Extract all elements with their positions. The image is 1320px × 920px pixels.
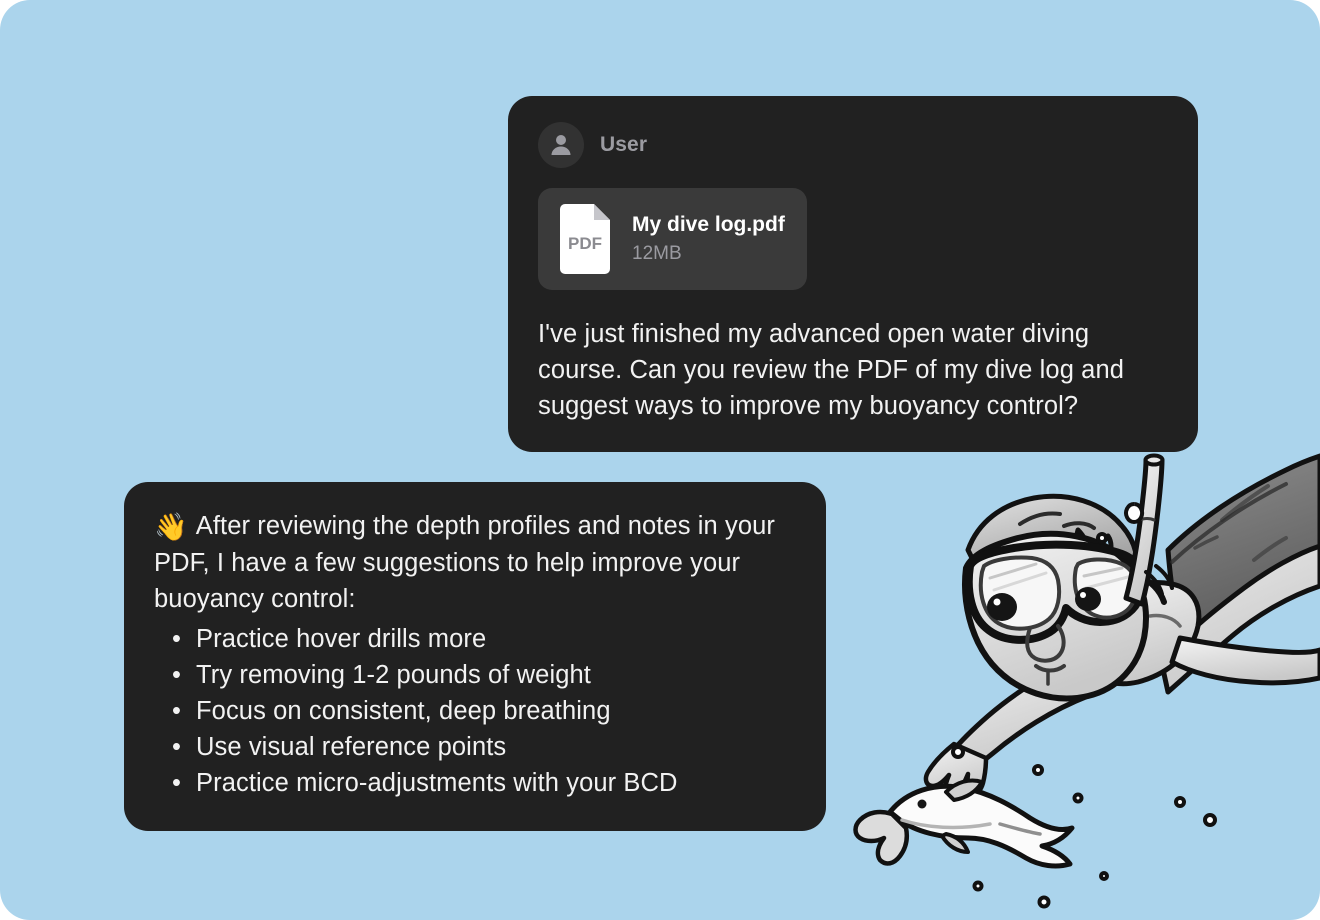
- pdf-file-icon: PDF: [556, 204, 614, 274]
- user-message-bubble: User PDF My dive log.pdf 12MB I've just …: [508, 96, 1198, 452]
- list-item: Use visual reference points: [196, 729, 796, 765]
- svg-text:PDF: PDF: [568, 234, 602, 253]
- list-item: Practice micro-adjustments with your BCD: [196, 765, 796, 801]
- assistant-suggestion-list: Practice hover drills more Try removing …: [154, 621, 796, 801]
- list-item: Focus on consistent, deep breathing: [196, 693, 796, 729]
- list-item: Try removing 1-2 pounds of weight: [196, 657, 796, 693]
- waving-hand-emoji: 👋: [154, 512, 188, 542]
- assistant-message-bubble: 👋After reviewing the depth profiles and …: [124, 482, 826, 831]
- assistant-intro-paragraph: 👋After reviewing the depth profiles and …: [154, 508, 796, 617]
- pdf-filesize-label: 12MB: [632, 243, 785, 265]
- pdf-attachment-card[interactable]: PDF My dive log.pdf 12MB: [538, 188, 807, 290]
- snorkeler-underwater-illustration: [850, 400, 1320, 920]
- screenshot-canvas: User PDF My dive log.pdf 12MB I've just …: [0, 0, 1320, 920]
- list-item: Practice hover drills more: [196, 621, 796, 657]
- pdf-filename-label: My dive log.pdf: [632, 213, 785, 237]
- user-message-header: User: [538, 122, 1168, 168]
- person-avatar-icon: [538, 122, 584, 168]
- user-name-label: User: [600, 133, 647, 157]
- pdf-attachment-meta: My dive log.pdf 12MB: [632, 213, 785, 265]
- user-message-text: I've just finished my advanced open wate…: [538, 316, 1168, 424]
- assistant-intro-text: After reviewing the depth profiles and n…: [154, 512, 775, 613]
